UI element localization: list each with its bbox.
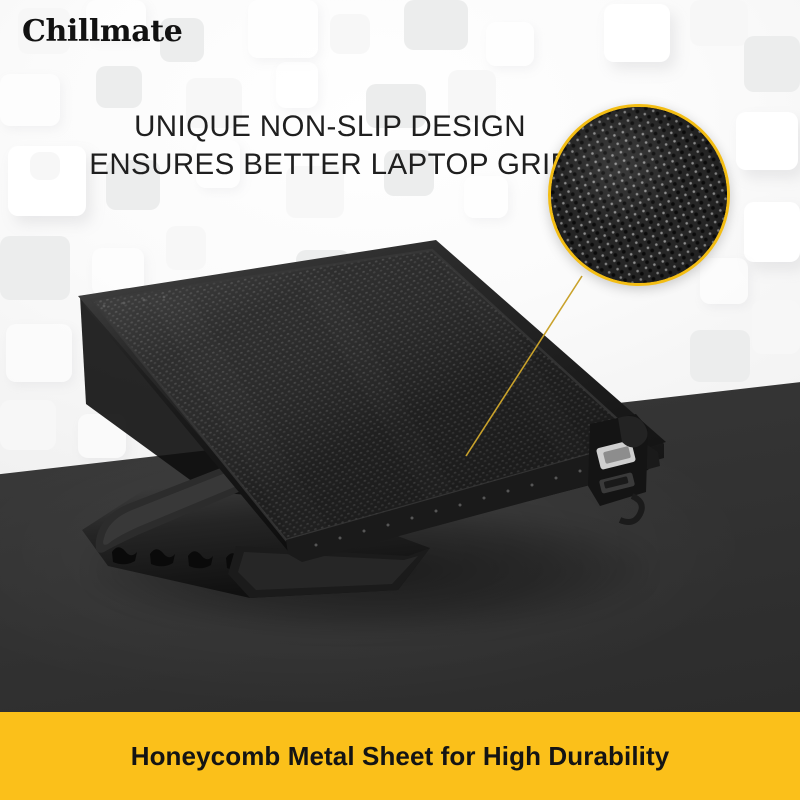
closeup-vignette — [551, 107, 727, 283]
texture-closeup-circle — [548, 104, 730, 286]
footer-banner-text: Honeycomb Metal Sheet for High Durabilit… — [0, 712, 800, 800]
product-banner-canvas: Chillmate UNIQUE NON-SLIP DESIGN ENSURES… — [0, 0, 800, 800]
side-ports-and-clip — [588, 414, 648, 522]
footer-banner: Honeycomb Metal Sheet for High Durabilit… — [0, 712, 800, 800]
